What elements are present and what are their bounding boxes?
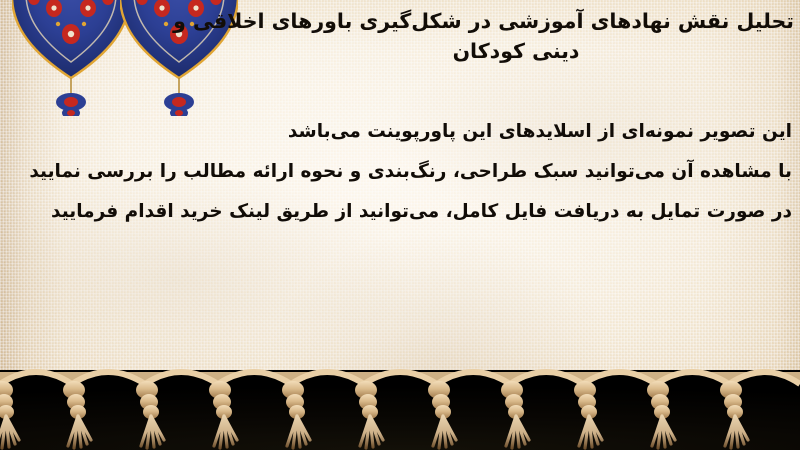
body-line-3: در صورت تمایل به دریافت فایل کامل، می‌تو… (2, 192, 792, 232)
tassel (428, 381, 456, 448)
tassel (136, 381, 164, 448)
body-line-1: این تصویر نمونه‌ای از اسلایدهای این پاور… (2, 112, 792, 152)
tassel (282, 381, 310, 448)
slide-title-line-2: دینی کودکان (238, 36, 794, 66)
tassel (720, 381, 748, 448)
slide-canvas: تحلیل نقش نهادهای آموزشی در شکل‌گیری باو… (0, 0, 800, 450)
body-line-2: با مشاهده آن می‌توانید سبک طراحی، رنگ‌بن… (2, 152, 792, 192)
bottom-fringe-border (0, 354, 800, 450)
tassel (355, 381, 383, 448)
fringe-scallop-shapes (0, 354, 800, 450)
tassel (501, 381, 529, 448)
slide-title: تحلیل نقش نهادهای آموزشی در شکل‌گیری باو… (238, 6, 794, 66)
tassel (574, 381, 602, 448)
slide-body: این تصویر نمونه‌ای از اسلایدهای این پاور… (2, 112, 792, 232)
tassel (209, 381, 237, 448)
tassel (63, 381, 91, 448)
persian-medallion-left-icon (12, 0, 130, 116)
tassel (647, 381, 675, 448)
slide-title-line-1: تحلیل نقش نهادهای آموزشی در شکل‌گیری باو… (238, 6, 794, 36)
tassel (0, 381, 19, 448)
